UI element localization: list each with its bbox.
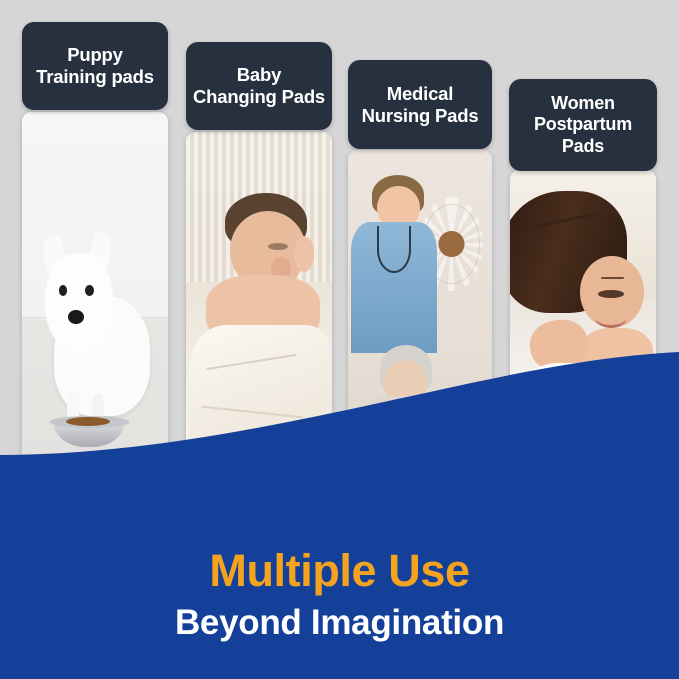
infographic-canvas: Puppy Training pads Baby Changing Pads	[0, 0, 679, 679]
label-chip-puppy-training-pads[interactable]: Puppy Training pads	[22, 22, 168, 110]
headline-block: Multiple Use Beyond Imagination	[0, 548, 679, 640]
label-chip-baby-changing-pads[interactable]: Baby Changing Pads	[186, 42, 332, 130]
headline-secondary: Beyond Imagination	[0, 605, 679, 640]
label-chip-medical-nursing-pads[interactable]: Medical Nursing Pads	[348, 60, 492, 149]
headline-primary: Multiple Use	[0, 548, 679, 593]
label-chip-women-postpartum-pads[interactable]: Women Postpartum Pads	[509, 79, 657, 171]
